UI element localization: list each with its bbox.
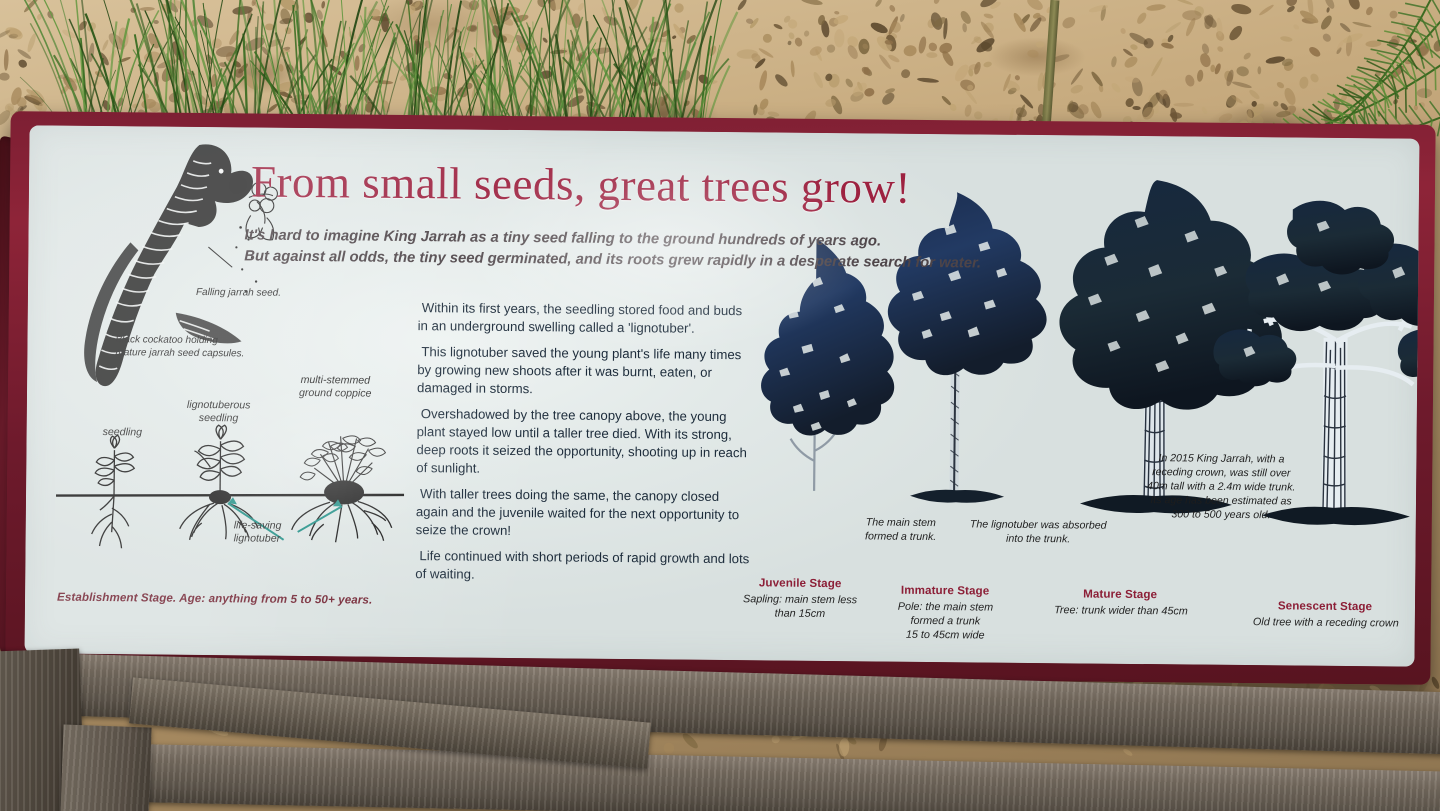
label-lignotuberous-seedling: lignotuberous seedling: [187, 399, 251, 426]
stage-desc-senescent: Old tree with a receding crown: [1215, 615, 1420, 631]
stage-name-mature: Mature Stage: [1040, 587, 1200, 602]
lignotuber-swelling: [209, 490, 231, 504]
label-seedling: seedling: [103, 426, 143, 440]
lignotuber-swelling-large: [324, 480, 364, 504]
stage-desc-immature: Pole: the main stem formed a trunk 15 to…: [863, 599, 1028, 643]
body-paragraph: Overshadowed by the tree canopy above, t…: [416, 406, 752, 480]
body-paragraph: With taller trees doing the same, the ca…: [416, 485, 751, 541]
label-multi-stemmed-coppice: multi-stemmed ground coppice: [299, 374, 372, 401]
body-paragraph: Life continued with short periods of rap…: [415, 547, 750, 586]
note-king-jarrah-2015: In 2015 King Jarrah, with a receding cro…: [1131, 452, 1312, 524]
stage-name-immature: Immature Stage: [865, 583, 1025, 598]
sign-panel: From small seeds, great trees grow! It's…: [24, 125, 1419, 666]
page-title: From small seeds, great trees grow!: [251, 155, 1071, 215]
seedling-stage-2: [194, 425, 245, 493]
bench-post-center: [60, 724, 151, 811]
body-text-column: Within its first years, the seedling sto…: [415, 299, 753, 595]
note-lignotuber-absorbed: The lignotuber was absorbed into the tru…: [951, 518, 1126, 548]
seedling-stage-1: [92, 435, 135, 548]
label-black-cockatoo: Black cockatoo holding mature jarrah see…: [115, 334, 244, 360]
label-life-saving-lignotuber: life-saving lignotuber: [234, 519, 282, 546]
stage-desc-mature: Tree: trunk wider than 45cm: [1010, 603, 1232, 619]
note-main-stem: The main stem formed a trunk.: [836, 516, 966, 545]
stage-name-senescent: Senescent Stage: [1240, 599, 1410, 614]
body-paragraph: This lignotuber saved the young plant's …: [417, 343, 752, 399]
stage-name-juvenile: Juvenile Stage: [720, 576, 880, 591]
body-paragraph: Within its first years, the seedling sto…: [418, 299, 753, 338]
subtitle: It's hard to imagine King Jarrah as a ti…: [244, 225, 1054, 276]
seedling-growth-diagram: [51, 426, 413, 639]
label-falling-seed: Falling jarrah seed.: [196, 287, 281, 300]
tree-juvenile: [760, 238, 896, 491]
